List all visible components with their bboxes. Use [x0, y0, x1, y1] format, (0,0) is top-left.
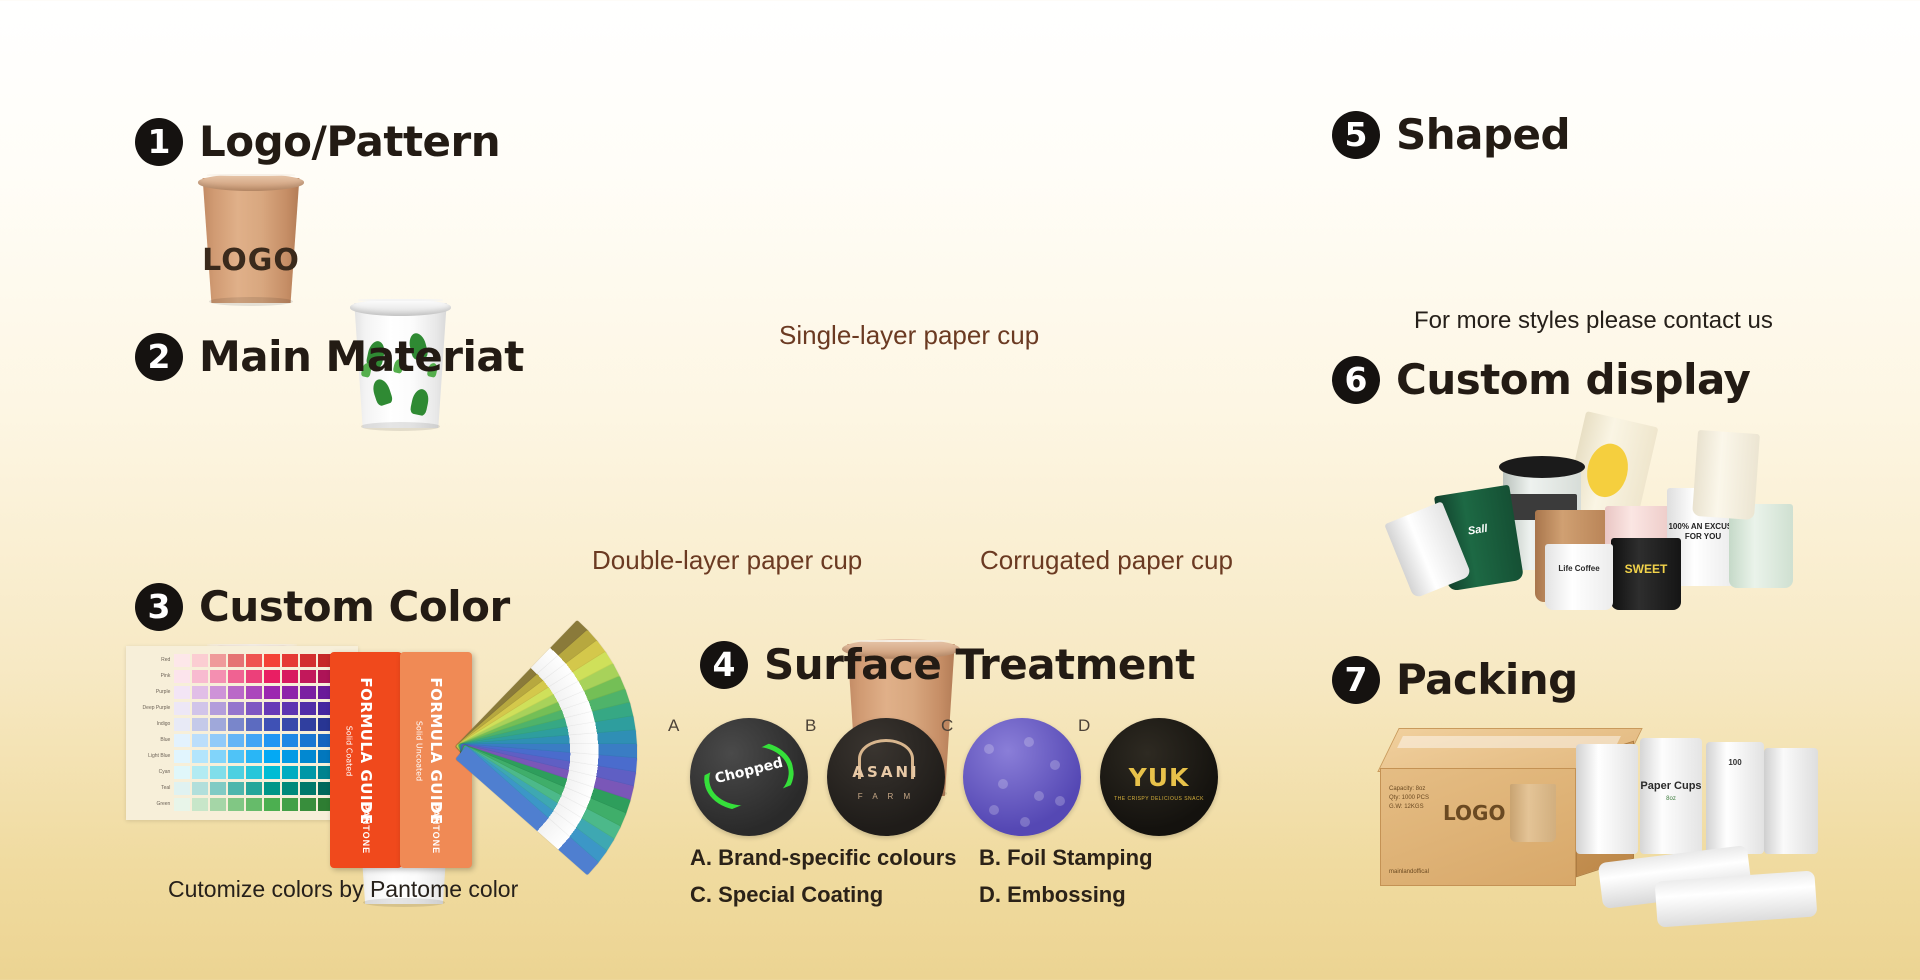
- surface-treatment-a: A Chopped: [690, 718, 808, 836]
- swatch-cell: [174, 734, 190, 747]
- yellow-blob-icon: [1582, 440, 1633, 502]
- surface-swatch-d-label: YUK: [1100, 763, 1218, 792]
- swatch-cell: [300, 798, 316, 811]
- pantone-book-coated: FORMULA GUIDE Solid Coated PANTONE: [330, 652, 402, 868]
- swatch-cell: [300, 702, 316, 715]
- pantone-swatch-grid: RedPinkPurpleDeep PurpleIndigoBlueLight …: [126, 646, 358, 820]
- book-subtitle: Solid Coated: [345, 726, 354, 777]
- surface-swatch-d-sub: THE CRISPY DELICIOUS SNACK: [1100, 796, 1218, 802]
- swatch-cell: [228, 798, 244, 811]
- swatch-row-label: Purple: [130, 689, 174, 695]
- swatch-cell: [174, 702, 190, 715]
- swatch-cell: [228, 654, 244, 667]
- swatch-cell: [174, 782, 190, 795]
- swatch-cell: [228, 782, 244, 795]
- swatch-row: Light Blue: [130, 748, 354, 764]
- emboss-dots: [963, 718, 1081, 836]
- swatch-cell: [282, 734, 298, 747]
- swatch-cell: [192, 670, 208, 683]
- surface-swatch-a: Chopped: [690, 718, 808, 836]
- swatch-cell: [228, 686, 244, 699]
- section-7-badge: 7: [1332, 656, 1380, 704]
- pantone-fan-strips: [455, 648, 645, 866]
- cup-base-shadow: [209, 297, 293, 306]
- swatch-cell: [264, 782, 280, 795]
- swatch-row: Cyan: [130, 764, 354, 780]
- swatch-row: Blue: [130, 732, 354, 748]
- pack-count: 100: [1706, 758, 1764, 767]
- section-3-caption: Cutomize colors by Pantome color: [168, 876, 518, 903]
- surface-swatch-c: [963, 718, 1081, 836]
- cup-rim: [350, 299, 451, 315]
- swatch-cell: [246, 798, 262, 811]
- surface-letter-b: B: [805, 716, 816, 736]
- section-2-title: Main Materiat: [199, 332, 524, 381]
- swatch-cell: [264, 686, 280, 699]
- swatch-row-label: Blue: [130, 737, 174, 743]
- swatch-cell: [228, 734, 244, 747]
- swatch-cell: [228, 718, 244, 731]
- swatch-row-label: Red: [130, 657, 174, 663]
- swatch-cell: [282, 750, 298, 763]
- swatch-cell: [264, 654, 280, 667]
- swatch-cell: [210, 750, 226, 763]
- swatch-row: Purple: [130, 684, 354, 700]
- section-4-title: Surface Treatment: [764, 640, 1195, 689]
- swatch-cell: [210, 686, 226, 699]
- swatch-row-label: Cyan: [130, 769, 174, 775]
- swatch-cell: [192, 798, 208, 811]
- section-4-badge: 4: [700, 641, 748, 689]
- surface-letter-c: C: [941, 716, 953, 736]
- section-1-title: Logo/Pattern: [199, 117, 500, 166]
- carton-cup-graphic: [1510, 784, 1556, 842]
- swatch-cell: [210, 798, 226, 811]
- swatch-cell: [300, 654, 316, 667]
- label-corrugated: Corrugated paper cup: [980, 545, 1233, 576]
- book-brand: PANTONE: [361, 804, 371, 854]
- swatch-cell: [210, 702, 226, 715]
- swatch-row: Red: [130, 652, 354, 668]
- swatch-cell: [264, 798, 280, 811]
- swatch-cell: [228, 670, 244, 683]
- swatch-cell: [192, 782, 208, 795]
- section-5-title: Shaped: [1396, 110, 1570, 159]
- swatch-cell: [264, 718, 280, 731]
- swatch-row: Green: [130, 796, 354, 812]
- display-cup-life: Life Coffee: [1545, 544, 1613, 610]
- swatch-cell: [210, 766, 226, 779]
- section-5-badge: 5: [1332, 111, 1380, 159]
- swatch-cell: [282, 654, 298, 667]
- swatch-cell: [174, 750, 190, 763]
- surface-letter-d: D: [1078, 716, 1090, 736]
- swatch-cell: [174, 654, 190, 667]
- cup-rim-inner: [207, 174, 296, 176]
- swatch-cell: [192, 654, 208, 667]
- surface-swatch-d: YUK THE CRISPY DELICIOUS SNACK: [1100, 718, 1218, 836]
- section-4-heading: 4 Surface Treatment: [700, 640, 1195, 689]
- section-5-heading: 5 Shaped: [1332, 110, 1570, 159]
- label-single-layer: Single-layer paper cup: [779, 320, 1039, 351]
- swatch-cell: [174, 686, 190, 699]
- swatch-cell: [300, 718, 316, 731]
- swatch-cell: [300, 670, 316, 683]
- surface-treatment-c: C: [963, 718, 1081, 836]
- display-cup-life-label: Life Coffee: [1545, 564, 1613, 573]
- swatch-cell: [282, 782, 298, 795]
- swatch-cell: [264, 702, 280, 715]
- packing-cup-stacks: Paper Cups 8oz 100: [1560, 738, 1890, 928]
- swatch-row-label: Green: [130, 801, 174, 807]
- pack-label: Paper Cups: [1640, 780, 1702, 792]
- surface-swatch-b-sub: F A R M: [827, 792, 945, 801]
- swatch-cell: [174, 798, 190, 811]
- swatch-cell: [246, 686, 262, 699]
- swatch-cell: [228, 750, 244, 763]
- swatch-row-label: Deep Purple: [130, 705, 174, 711]
- surface-legend-a: A. Brand-specific colours: [690, 845, 957, 871]
- custom-display-cluster: Sall 100% AN EXCUSE FOR YOU SWEET Life C…: [1395, 418, 1795, 608]
- swatch-cell: [228, 766, 244, 779]
- book-subtitle: Solid Uncoated: [415, 721, 424, 781]
- swatch-cell: [210, 654, 226, 667]
- cup-kraft-logo: LOGO: [196, 178, 306, 303]
- swatch-cell: [192, 766, 208, 779]
- section-5-caption: For more styles please contact us: [1414, 307, 1773, 335]
- swatch-cell: [246, 766, 262, 779]
- swatch-cell: [246, 782, 262, 795]
- surface-legend-d: D. Embossing: [979, 882, 1126, 908]
- display-cup-sweet: SWEET: [1611, 538, 1681, 610]
- black-lid-icon: [1499, 456, 1585, 478]
- carton-logo: LOGO: [1443, 801, 1505, 825]
- swatch-cell: [300, 734, 316, 747]
- surface-treatment-b: B ASANI F A R M: [827, 718, 945, 836]
- swatch-cell: [246, 750, 262, 763]
- swatch-cell: [300, 750, 316, 763]
- cup-sleeve-1: [1576, 744, 1638, 854]
- surface-letter-a: A: [668, 716, 679, 736]
- surface-treatment-d: D YUK THE CRISPY DELICIOUS SNACK: [1100, 718, 1218, 836]
- carton-footer: mainlandoffical: [1389, 868, 1429, 877]
- swatch-row-label: Light Blue: [130, 753, 174, 759]
- cup-rim: [198, 174, 304, 190]
- infographic-canvas: 1 Logo/Pattern LOGO 2 Main Materiat: [0, 0, 1920, 980]
- cup-base-shadow: [361, 422, 441, 431]
- swatch-cell: [282, 798, 298, 811]
- swatch-row: Teal: [130, 780, 354, 796]
- section-6-heading: 6 Custom display: [1332, 355, 1750, 404]
- swatch-cell: [174, 670, 190, 683]
- surface-legend-c: C. Special Coating: [690, 882, 883, 908]
- swatch-cell: [246, 718, 262, 731]
- swatch-cell: [174, 766, 190, 779]
- swatch-cell: [282, 702, 298, 715]
- section-6-badge: 6: [1332, 356, 1380, 404]
- section-6-title: Custom display: [1396, 355, 1750, 404]
- surface-swatch-b-label: ASANI: [827, 763, 945, 781]
- swatch-row: Indigo: [130, 716, 354, 732]
- swatch-cell: [192, 750, 208, 763]
- surface-legend-b: B. Foil Stamping: [979, 845, 1153, 871]
- cup-sleeve-3: 100: [1706, 742, 1764, 854]
- swatch-cell: [300, 766, 316, 779]
- section-3-heading: 3 Custom Color: [135, 582, 510, 631]
- section-7-title: Packing: [1396, 655, 1578, 704]
- swatch-cell: [192, 734, 208, 747]
- swatch-cell: [282, 686, 298, 699]
- section-2-badge: 2: [135, 333, 183, 381]
- swatch-cell: [210, 670, 226, 683]
- swatch-cell: [192, 686, 208, 699]
- swatch-row-label: Indigo: [130, 721, 174, 727]
- swatch-row: Pink: [130, 668, 354, 684]
- swatch-cell: [246, 654, 262, 667]
- swatch-row-label: Pink: [130, 673, 174, 679]
- carton-spec: Capacity: 8oz Qty: 1000 PCS G.W: 12KGS: [1389, 785, 1429, 812]
- cup-body: [196, 178, 306, 303]
- book-brand: PANTONE: [431, 804, 441, 854]
- swatch-cell: [246, 734, 262, 747]
- swatch-cell: [282, 766, 298, 779]
- swatch-cell: [192, 702, 208, 715]
- cup-rim-inner: [358, 299, 443, 301]
- label-double-layer: Double-layer paper cup: [592, 545, 862, 576]
- cup-sleeve-2: Paper Cups 8oz: [1640, 738, 1702, 854]
- section-3-title: Custom Color: [199, 582, 510, 631]
- swatch-cell: [246, 670, 262, 683]
- swatch-cell: [210, 782, 226, 795]
- section-7-heading: 7 Packing: [1332, 655, 1578, 704]
- swatch-cell: [174, 718, 190, 731]
- swatch-cell: [264, 766, 280, 779]
- display-cup-cream-right: [1692, 430, 1760, 520]
- cup-sleeve-4: [1764, 748, 1818, 854]
- pack-sublabel: 8oz: [1640, 796, 1702, 802]
- swatch-cell: [264, 734, 280, 747]
- section-1-badge: 1: [135, 118, 183, 166]
- swatch-cell: [282, 670, 298, 683]
- swatch-cell: [300, 782, 316, 795]
- display-cup-sweet-label: SWEET: [1611, 562, 1681, 576]
- swatch-cell: [264, 750, 280, 763]
- swatch-cell: [300, 686, 316, 699]
- swatch-row-label: Teal: [130, 785, 174, 791]
- section-3-badge: 3: [135, 583, 183, 631]
- cup-sleeve-lying-2: [1655, 870, 1818, 927]
- swatch-cell: [264, 670, 280, 683]
- swatch-row: Deep Purple: [130, 700, 354, 716]
- swatch-cell: [246, 702, 262, 715]
- swatch-cell: [228, 702, 244, 715]
- section-2-heading: 2 Main Materiat: [135, 332, 524, 381]
- swatch-cell: [192, 718, 208, 731]
- section-1-heading: 1 Logo/Pattern: [135, 117, 500, 166]
- cup-logo-text: LOGO: [196, 243, 306, 278]
- swatch-cell: [210, 734, 226, 747]
- surface-swatch-b: ASANI F A R M: [827, 718, 945, 836]
- swatch-cell: [210, 718, 226, 731]
- swatch-cell: [282, 718, 298, 731]
